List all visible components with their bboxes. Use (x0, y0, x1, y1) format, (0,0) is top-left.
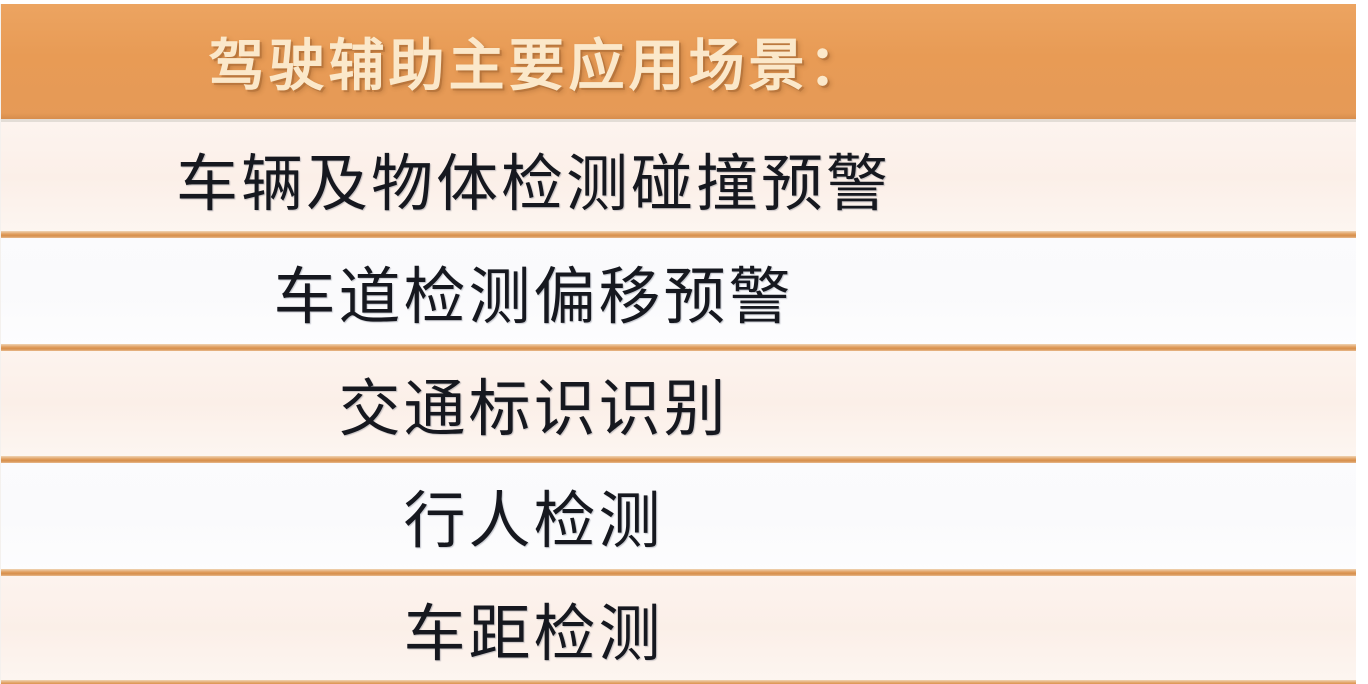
table-row[interactable]: 行人检测 (1, 459, 1356, 571)
top-margin (0, 0, 1368, 4)
scenario-label-traffic-sign-recognition: 交通标识识别 (338, 358, 1018, 448)
slide-root: 驾驶辅助主要应用场景： 车辆及物体检测碰撞预警 车道检测偏移预警 交通标识识别 … (0, 0, 1368, 684)
scenario-label-headway-distance-detection: 车距检测 (403, 583, 953, 673)
application-scenarios-table: 驾驶辅助主要应用场景： 车辆及物体检测碰撞预警 车道检测偏移预警 交通标识识别 … (0, 4, 1356, 684)
table-header: 驾驶辅助主要应用场景： (1, 4, 1356, 122)
table-row[interactable]: 车距检测 (1, 572, 1356, 684)
table-row[interactable]: 交通标识识别 (1, 347, 1356, 459)
right-margin (1356, 0, 1368, 684)
scenario-label-lane-departure-warning: 车道检测偏移预警 (273, 246, 1083, 336)
page-title: 驾驶辅助主要应用场景： (209, 21, 1159, 102)
scenario-label-pedestrian-detection: 行人检测 (403, 470, 953, 560)
table-row[interactable]: 车道检测偏移预警 (1, 234, 1356, 346)
table-row[interactable]: 车辆及物体检测碰撞预警 (1, 122, 1356, 234)
scenario-label-vehicle-object-collision-warning: 车辆及物体检测碰撞预警 (176, 133, 1181, 223)
